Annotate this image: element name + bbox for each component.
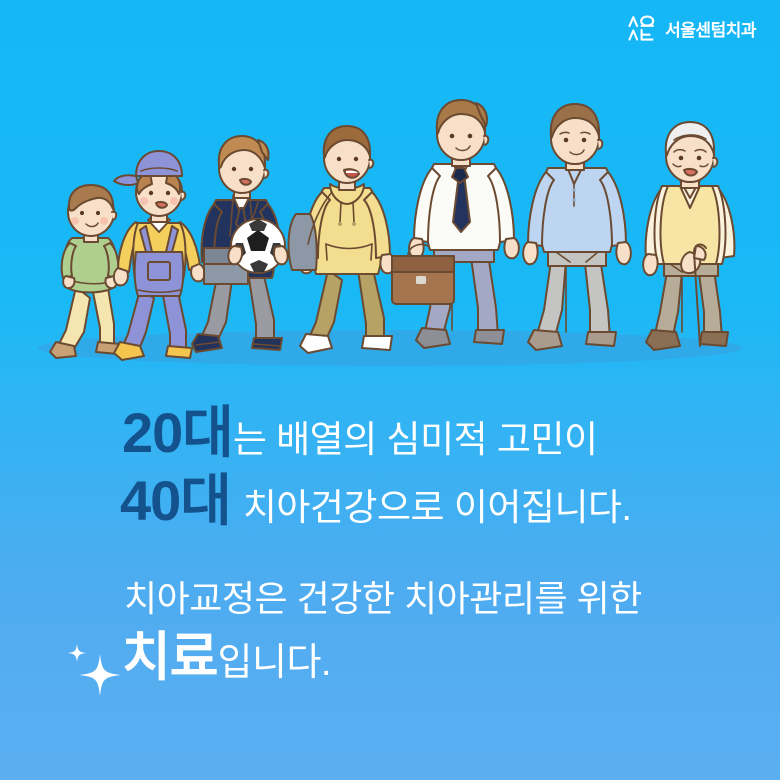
headline-line-2: 40대 치아건강으로 이어집니다.: [120, 473, 780, 539]
figure-child: [114, 151, 205, 360]
ages-illustration: .ol { stroke:#6B4A32; stroke-width:2; st…: [0, 40, 780, 380]
figure-toddler: [50, 185, 120, 358]
sparkle-decoration: [60, 640, 150, 710]
subcopy-line4-rest: 입니다.: [218, 644, 331, 682]
brand-name: 서울센텀치과: [665, 16, 756, 41]
figure-middleaged: [523, 104, 631, 350]
sparkle-star-icon: [79, 654, 121, 696]
subcopy-line-4: 치료 입니다.: [122, 631, 780, 684]
seoul-center-dental-mark-icon: [627, 14, 657, 42]
headline-line2-emphasis: 40대: [120, 473, 231, 529]
promo-card: 서울센텀치과 .ol { stroke:#6B4A32; stroke-widt…: [0, 0, 780, 780]
sparkle-star-small-icon: [68, 644, 86, 662]
headline-line1-emphasis: 20대: [122, 405, 233, 461]
figure-businessman: [392, 100, 519, 348]
brand-logo[interactable]: 서울센텀치과: [627, 14, 756, 42]
headline-line-1: 20대 는 배열의 심미적 고민이: [122, 405, 780, 473]
figure-student: [192, 136, 288, 352]
subcopy-line-3: 치아교정은 건강한 치아관리를 위한: [124, 581, 780, 617]
headline-line2-rest: 치아건강으로 이어집니다.: [243, 489, 632, 526]
headline-line1-rest: 는 배열의 심미적 고민이: [233, 421, 598, 458]
figure-elderly: [643, 122, 734, 350]
figure-teen: [289, 126, 395, 353]
